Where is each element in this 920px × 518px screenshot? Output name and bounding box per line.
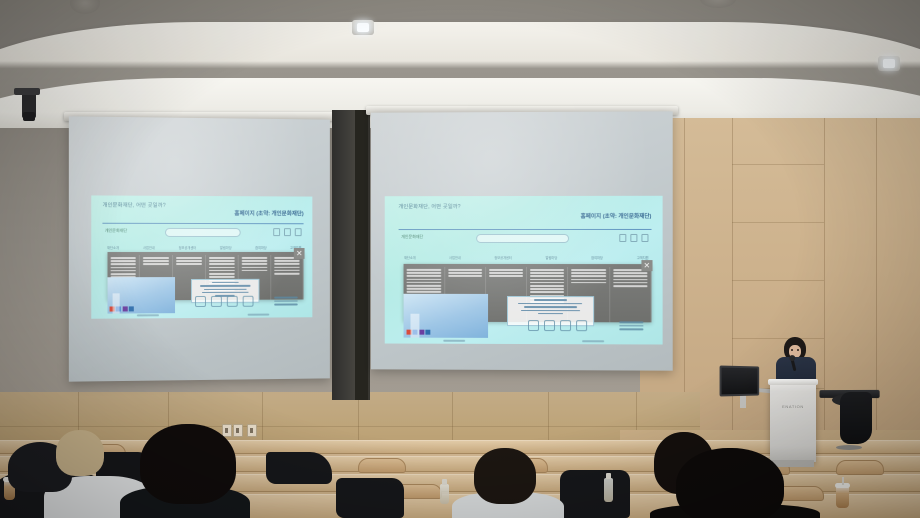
podium-top xyxy=(768,379,818,385)
slide-divider xyxy=(103,223,304,225)
slide-right: 개인문화재단, 어떤 곳일까? 홈페이지 (초약: 개인문화재단) 개인문화재단… xyxy=(385,196,663,345)
user-icon xyxy=(619,234,626,242)
chair xyxy=(358,458,406,473)
quick-link-icons[interactable] xyxy=(195,296,254,307)
backpack xyxy=(560,470,630,518)
nav-item[interactable]: 사업안내 xyxy=(449,255,461,260)
water-bottle xyxy=(604,478,613,502)
ceiling-spotlight xyxy=(878,56,900,71)
slide-footer-area xyxy=(107,276,304,313)
chair xyxy=(836,460,884,475)
site-utility-icons xyxy=(273,228,301,236)
ceiling-vent-icon xyxy=(70,0,100,14)
audience-head xyxy=(676,448,784,518)
slide-divider xyxy=(398,228,651,229)
footer-link-list[interactable] xyxy=(274,297,298,308)
footer-link-list[interactable] xyxy=(620,321,644,332)
tote-bag xyxy=(266,452,332,484)
audience-head xyxy=(474,448,536,504)
site-navbar: 재단소개 사업안내 정보공개센터 알림마당 참여마당 고객지원 xyxy=(404,255,649,260)
nav-item[interactable]: 알림마당 xyxy=(220,245,232,250)
site-search-input[interactable] xyxy=(476,234,570,243)
podium: ENATION xyxy=(770,382,816,462)
projection-screen-left: 개인문화재단, 어떤 곳일까? 홈페이지 (초약: 개인문화재단) 개인문화재단… xyxy=(69,116,330,381)
podium-logo: ENATION xyxy=(770,404,816,409)
quick-link-icons[interactable] xyxy=(528,320,587,331)
nav-item[interactable]: 사업안내 xyxy=(143,245,155,250)
slide-subtitle: 홈페이지 (초약: 개인문화재단) xyxy=(581,212,652,220)
coat-on-stool xyxy=(840,392,872,444)
nav-item[interactable]: 정보공개센터 xyxy=(494,255,512,260)
close-icon[interactable]: ✕ xyxy=(294,248,305,259)
hero-image xyxy=(404,293,488,337)
projection-screen-right: 개인문화재단, 어떤 곳일까? 홈페이지 (초약: 개인문화재단) 개인문화재단… xyxy=(371,111,673,370)
ceiling-vent-icon xyxy=(700,0,736,8)
nav-item[interactable]: 정보공개센터 xyxy=(179,245,197,250)
slide-title: 개인문화재단, 어떤 곳일까? xyxy=(398,203,460,210)
ceiling-projector-icon xyxy=(22,92,36,118)
site-logo: 개인문화재단 xyxy=(105,228,127,234)
wall-outlet-icon xyxy=(222,424,232,437)
wall-outlet-icon xyxy=(233,424,243,437)
audience-head xyxy=(56,430,104,476)
audience-head xyxy=(140,424,236,504)
backpack xyxy=(336,478,404,518)
site-navbar: 재단소개 사업안내 정보공개센터 알림마당 참여마당 고객지원 xyxy=(107,245,301,250)
user-icon xyxy=(273,228,280,236)
globe-icon xyxy=(284,228,291,236)
water-bottle xyxy=(440,484,449,504)
slide-left: 개인문화재단, 어떤 곳일까? 홈페이지 (초약: 개인문화재단) 개인문화재단… xyxy=(91,195,312,318)
ceiling-spotlight xyxy=(352,20,374,35)
slide-bottom-bar xyxy=(91,314,312,317)
hero-image xyxy=(107,277,175,314)
slide-title: 개인문화재단, 어떤 곳일까? xyxy=(103,202,166,209)
globe-icon xyxy=(630,234,637,242)
lecture-hall-scene: 개인문화재단, 어떤 곳일까? 홈페이지 (초약: 개인문화재단) 개인문화재단… xyxy=(0,0,920,518)
site-search-input[interactable] xyxy=(165,228,240,237)
nav-item[interactable]: 재단소개 xyxy=(107,245,119,250)
nav-item[interactable]: 알림마당 xyxy=(546,255,558,260)
carousel-controls[interactable] xyxy=(406,330,430,335)
screen-gap-dark xyxy=(355,110,368,400)
wall-outlet-icon xyxy=(247,424,257,437)
menu-icon xyxy=(642,234,649,242)
nav-item[interactable]: 재단소개 xyxy=(404,255,416,260)
nav-item[interactable]: 참여마당 xyxy=(591,255,603,260)
close-icon[interactable]: ✕ xyxy=(641,260,652,271)
carousel-controls[interactable] xyxy=(109,306,134,311)
slide-bottom-bar xyxy=(385,340,663,343)
site-logo: 개인문화재단 xyxy=(401,234,423,240)
stool-base xyxy=(836,445,862,450)
slide-footer-area xyxy=(404,293,651,338)
nav-item[interactable]: 참여마당 xyxy=(255,245,267,250)
slide-subtitle: 홈페이지 (초약: 개인문화재단) xyxy=(234,210,303,218)
menu-icon xyxy=(295,228,302,236)
iced-coffee-cup xyxy=(836,486,849,508)
site-utility-icons xyxy=(619,234,648,242)
presenter-monitor xyxy=(720,366,760,397)
podium-base xyxy=(772,460,814,467)
